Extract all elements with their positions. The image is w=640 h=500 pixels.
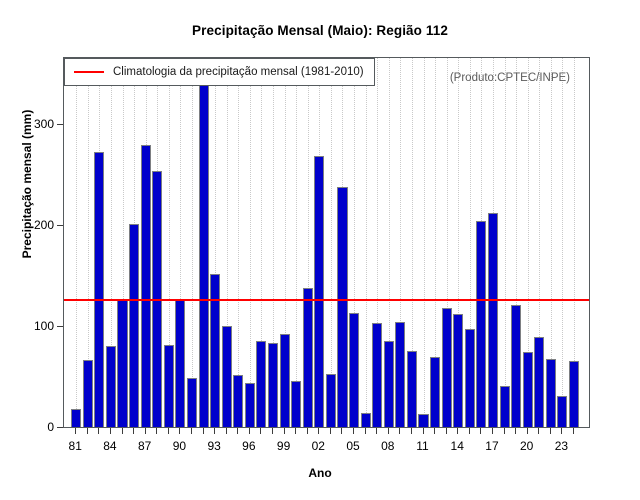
produto-annotation: (Produto:CPTEC/INPE) — [450, 72, 570, 84]
bar — [233, 375, 243, 427]
x-tick — [122, 428, 123, 434]
y-tick-label: 0 — [47, 420, 54, 434]
x-tick — [480, 428, 481, 434]
x-tick — [492, 428, 493, 434]
y-tick-label: 200 — [34, 218, 54, 232]
x-tick-label: 81 — [69, 439, 82, 453]
x-tick — [226, 428, 227, 434]
gridline — [331, 58, 333, 427]
bar — [291, 381, 301, 428]
bar — [476, 221, 486, 427]
x-tick — [330, 428, 331, 434]
x-tick-label: 96 — [242, 439, 255, 453]
x-tick — [75, 428, 76, 434]
chart-title: Precipitação Mensal (Maio): Região 112 — [0, 23, 640, 38]
x-tick-label: 20 — [520, 439, 533, 453]
x-tick — [237, 428, 238, 434]
bar — [129, 224, 139, 427]
bar — [453, 314, 463, 427]
x-tick-label: 05 — [346, 439, 359, 453]
bar — [268, 343, 278, 427]
bar — [199, 85, 209, 427]
x-tick — [527, 428, 528, 434]
gridline — [238, 58, 240, 427]
x-tick — [376, 428, 377, 434]
x-tick — [318, 428, 319, 434]
bar — [384, 341, 394, 427]
bar — [511, 305, 521, 427]
x-tick — [191, 428, 192, 434]
bar — [337, 187, 347, 427]
x-tick — [98, 428, 99, 434]
x-tick — [260, 428, 261, 434]
x-tick — [307, 428, 308, 434]
plot-area — [63, 57, 590, 428]
x-tick — [145, 428, 146, 434]
x-tick-label: 17 — [485, 439, 498, 453]
bar — [222, 326, 232, 427]
y-axis: Precipitação mensal (mm) 0100200300 — [0, 57, 63, 428]
legend: Climatologia da precipitação mensal (198… — [64, 58, 375, 86]
bar — [187, 378, 197, 427]
bar — [569, 361, 579, 427]
bar — [523, 352, 533, 427]
bar — [534, 337, 544, 427]
x-tick — [110, 428, 111, 434]
x-tick — [133, 428, 134, 434]
bar — [326, 374, 336, 427]
bar — [442, 308, 452, 427]
x-tick — [365, 428, 366, 434]
plot-inner — [64, 58, 589, 427]
bar — [106, 346, 116, 427]
gridline — [562, 58, 564, 427]
bar — [349, 313, 359, 427]
x-tick-label: 87 — [138, 439, 151, 453]
x-tick — [423, 428, 424, 434]
x-tick — [457, 428, 458, 434]
y-axis-title: Precipitação mensal (mm) — [20, 34, 34, 334]
bar — [83, 360, 93, 427]
x-tick — [434, 428, 435, 434]
climatology-reference-line — [64, 299, 589, 301]
x-tick — [353, 428, 354, 434]
x-tick — [469, 428, 470, 434]
x-axis: 818487909396990205081114172023 — [63, 428, 590, 462]
x-tick — [249, 428, 250, 434]
x-tick — [87, 428, 88, 434]
bar — [465, 329, 475, 427]
x-tick — [538, 428, 539, 434]
gridline — [424, 58, 426, 427]
gridline — [76, 58, 78, 427]
bar — [141, 145, 151, 427]
x-tick-label: 23 — [555, 439, 568, 453]
x-tick — [504, 428, 505, 434]
x-tick — [561, 428, 562, 434]
x-tick — [272, 428, 273, 434]
gridline — [192, 58, 194, 427]
bar — [407, 351, 417, 427]
x-axis-title: Ano — [0, 466, 640, 480]
bar — [557, 396, 567, 427]
bar — [546, 359, 556, 427]
x-tick — [573, 428, 574, 434]
bar — [71, 409, 81, 427]
y-tick-label: 300 — [34, 117, 54, 131]
x-tick — [156, 428, 157, 434]
legend-line-swatch — [74, 71, 104, 73]
x-tick — [411, 428, 412, 434]
legend-label-climatology: Climatologia da precipitação mensal (198… — [113, 66, 364, 78]
gridline — [366, 58, 368, 427]
bar — [245, 383, 255, 427]
x-tick-label: 99 — [277, 439, 290, 453]
gridline — [505, 58, 507, 427]
bar — [500, 386, 510, 427]
x-tick — [515, 428, 516, 434]
bar — [303, 288, 313, 428]
bar — [488, 213, 498, 427]
x-tick-label: 84 — [103, 439, 116, 453]
bar — [94, 152, 104, 427]
x-tick — [295, 428, 296, 434]
x-tick-label: 14 — [451, 439, 464, 453]
bar — [418, 414, 428, 427]
x-tick-label: 08 — [381, 439, 394, 453]
x-tick — [214, 428, 215, 434]
bar — [314, 156, 324, 427]
x-tick — [446, 428, 447, 434]
x-tick-label: 02 — [312, 439, 325, 453]
x-tick — [179, 428, 180, 434]
bar — [395, 322, 405, 427]
bar — [372, 323, 382, 427]
bar — [164, 345, 174, 427]
bar — [361, 413, 371, 427]
bar — [430, 357, 440, 427]
bar — [210, 274, 220, 427]
gridline — [296, 58, 298, 427]
y-tick-label: 100 — [34, 319, 54, 333]
x-tick — [550, 428, 551, 434]
x-tick — [203, 428, 204, 434]
x-tick — [168, 428, 169, 434]
chart-root: Precipitação Mensal (Maio): Região 112 P… — [0, 0, 640, 500]
x-tick-label: 93 — [207, 439, 220, 453]
bar — [256, 341, 266, 427]
x-tick — [284, 428, 285, 434]
bar — [117, 300, 127, 427]
bar — [280, 334, 290, 427]
bar — [175, 300, 185, 427]
x-tick-label: 90 — [173, 439, 186, 453]
x-tick — [341, 428, 342, 434]
x-tick-label: 11 — [416, 439, 428, 453]
gridline — [250, 58, 252, 427]
x-tick — [399, 428, 400, 434]
x-tick — [388, 428, 389, 434]
